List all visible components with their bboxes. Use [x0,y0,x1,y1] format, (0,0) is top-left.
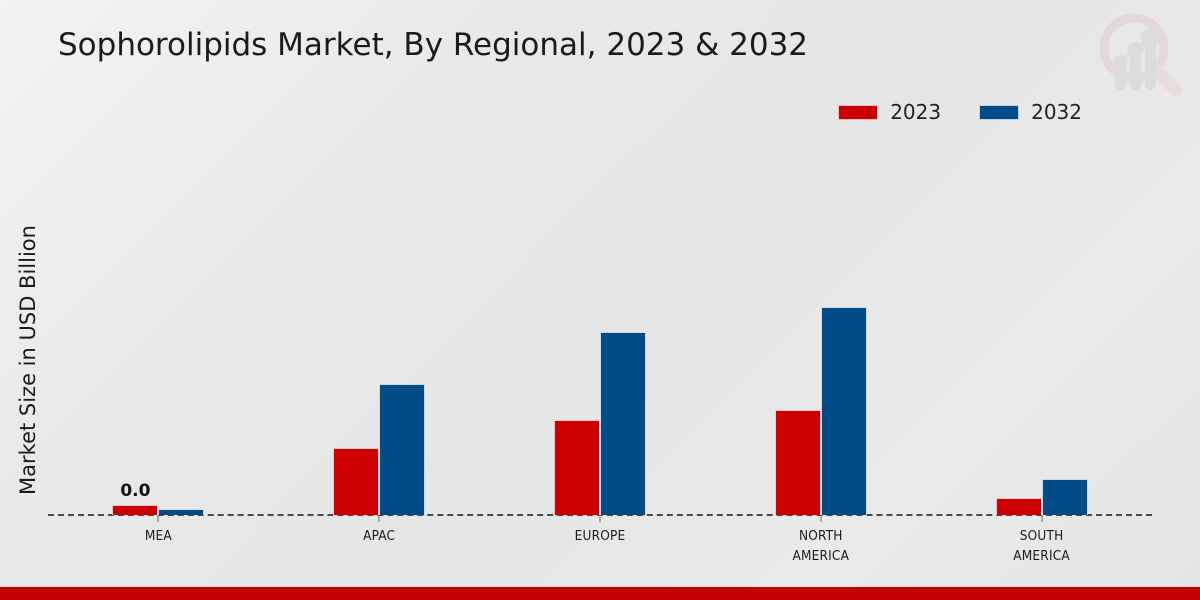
legend-label-2023: 2023 [890,100,941,124]
legend-swatch-2032 [979,105,1019,120]
bar-pair: 0.0 [112,150,204,515]
bar-wrapper [333,448,379,515]
bar-pair [996,150,1088,515]
bar-wrapper [600,332,646,515]
legend-label-2032: 2032 [1031,100,1082,124]
bar-2023[interactable] [775,410,821,515]
bar-group: 0.0MEA [48,150,269,515]
bar-2023[interactable] [112,505,158,515]
bar-groups: 0.0MEAAPACEUROPENORTH AMERICASOUTH AMERI… [48,150,1152,515]
x-axis-tick [1041,515,1042,522]
x-axis-label: EUROPE [575,527,626,547]
bar-2023[interactable] [333,448,379,515]
legend-item-2032[interactable]: 2032 [979,100,1082,124]
bar-2032[interactable] [1042,479,1088,515]
footer-strip [0,587,1200,600]
bar-pair [554,150,646,515]
bar-wrapper [821,307,867,515]
watermark-logo-icon [1082,2,1192,102]
y-axis-title: Market Size in USD Billion [16,180,40,540]
plot-area: 0.0MEAAPACEUROPENORTH AMERICASOUTH AMERI… [48,150,1152,515]
x-axis-label: NORTH AMERICA [792,527,849,566]
bar-wrapper: 0.0 [112,505,158,515]
bar-2032[interactable] [600,332,646,515]
bar-2032[interactable] [821,307,867,515]
legend-item-2023[interactable]: 2023 [838,100,941,124]
x-axis-label: SOUTH AMERICA [1013,527,1070,566]
bar-wrapper [158,509,204,515]
bar-wrapper [775,410,821,515]
x-axis-tick [158,515,159,522]
bar-group: SOUTH AMERICA [931,150,1152,515]
x-axis-label: APAC [363,527,395,547]
chart-page: Sophorolipids Market, By Regional, 2023 … [0,0,1200,600]
x-axis-label: MEA [145,527,172,547]
bar-2032[interactable] [379,384,425,515]
bar-wrapper [379,384,425,515]
bar-wrapper [554,420,600,515]
bar-wrapper [1042,479,1088,515]
bar-pair [333,150,425,515]
page-title: Sophorolipids Market, By Regional, 2023 … [58,27,808,63]
bar-group: APAC [269,150,490,515]
bar-value-label: 0.0 [120,481,150,501]
bar-2023[interactable] [554,420,600,515]
bar-pair [775,150,867,515]
bar-group: NORTH AMERICA [710,150,931,515]
x-axis-tick [820,515,821,522]
bar-2032[interactable] [158,509,204,515]
legend-swatch-2023 [838,105,878,120]
x-axis-tick [599,515,600,522]
bar-wrapper [996,498,1042,515]
chart-legend: 2023 2032 [838,100,1082,124]
bar-2023[interactable] [996,498,1042,515]
bar-group: EUROPE [490,150,711,515]
x-axis-tick [379,515,380,522]
